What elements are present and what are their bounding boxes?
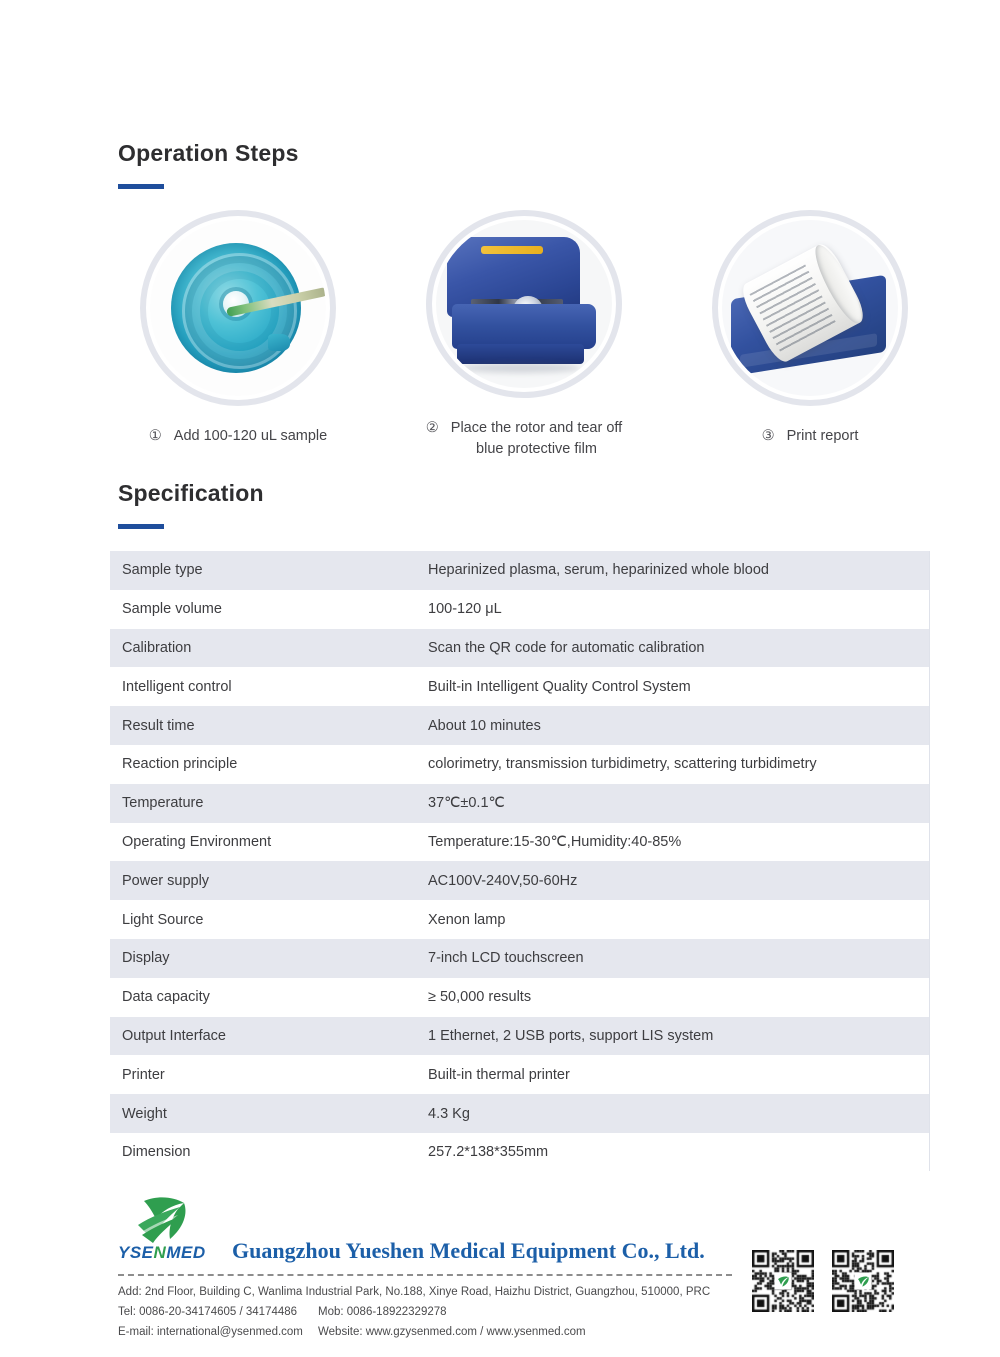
step-2-caption-line-1: Place the rotor and tear off (451, 420, 622, 436)
spec-value: Built-in Intelligent Quality Control Sys… (422, 667, 930, 706)
spec-value: Scan the QR code for automatic calibrati… (422, 629, 930, 668)
spec-key: Printer (110, 1055, 422, 1094)
step-1-caption-text: Add 100-120 uL sample (174, 426, 327, 447)
table-row: Reaction principlecolorimetry, transmiss… (110, 745, 930, 784)
logo-text-part2: MED (166, 1243, 205, 1262)
table-row: Light SourceXenon lamp (110, 900, 930, 939)
spec-value: Built-in thermal printer (422, 1055, 930, 1094)
spec-value: ≥ 50,000 results (422, 978, 930, 1017)
spec-value: About 10 minutes (422, 706, 930, 745)
qr-code-2[interactable] (832, 1250, 894, 1312)
spec-value: AC100V-240V,50-60Hz (422, 861, 930, 900)
printed-report-roll-photo (722, 220, 898, 396)
logo-text-highlight: N (154, 1243, 167, 1262)
table-right-rule (929, 551, 930, 1171)
spec-key: Dimension (110, 1133, 422, 1172)
qr-leaf-logo-icon (855, 1273, 872, 1290)
contact-info: Add: 2nd Floor, Building C, Wanlima Indu… (118, 1282, 758, 1342)
spec-key: Result time (110, 706, 422, 745)
table-row: Data capacity≥ 50,000 results (110, 978, 930, 1017)
table-row: Output Interface1 Ethernet, 2 USB ports,… (110, 1017, 930, 1056)
step-2-caption: ② Place the rotor and tear off blue prot… (426, 418, 622, 460)
step-1-photo-ring (140, 210, 336, 406)
footer-divider (118, 1274, 732, 1276)
step-2-caption-line-2: blue protective film (476, 441, 597, 457)
table-row: Display7-inch LCD touchscreen (110, 939, 930, 978)
spec-value: 100-120 μL (422, 590, 930, 629)
step-2-photo-ring (426, 210, 622, 398)
spec-key: Temperature (110, 784, 422, 823)
analyzer-open-tray-photo (436, 220, 612, 388)
spec-key: Calibration (110, 629, 422, 668)
table-row: CalibrationScan the QR code for automati… (110, 629, 930, 668)
spec-key: Sample type (110, 551, 422, 590)
operation-step-3: ③ Print report (690, 210, 930, 460)
table-row: Temperature37℃±0.1℃ (110, 784, 930, 823)
spec-value: 1 Ethernet, 2 USB ports, support LIS sys… (422, 1017, 930, 1056)
table-row: Weight4.3 Kg (110, 1094, 930, 1133)
qr-code-1[interactable] (752, 1250, 814, 1312)
operation-steps-heading: Operation Steps (118, 140, 299, 167)
spec-key: Display (110, 939, 422, 978)
email-website-line: E-mail: international@ysenmed.com Websit… (118, 1322, 758, 1342)
step-1-number: ① (149, 426, 162, 447)
table-row: Intelligent controlBuilt-in Intelligent … (110, 667, 930, 706)
spec-key: Output Interface (110, 1017, 422, 1056)
table-row: Operating EnvironmentTemperature:15-30℃,… (110, 823, 930, 862)
step-3-photo-ring (712, 210, 908, 406)
mobile: Mob: 0086-18922329278 (318, 1302, 758, 1322)
telephone: Tel: 0086-20-34174605 / 34174486 (118, 1302, 318, 1322)
spec-value: 37℃±0.1℃ (422, 784, 930, 823)
qr-leaf-logo-icon (775, 1273, 792, 1290)
table-row: Sample typeHeparinized plasma, serum, he… (110, 551, 930, 590)
operation-step-2: ② Place the rotor and tear off blue prot… (404, 210, 644, 460)
table-row: Dimension257.2*138*355mm (110, 1133, 930, 1172)
spec-value: Temperature:15-30℃,Humidity:40-85% (422, 823, 930, 862)
spec-key: Operating Environment (110, 823, 422, 862)
green-leaf-logo-icon (118, 1195, 214, 1247)
heading-accent-bar (118, 184, 164, 189)
spec-value: 257.2*138*355mm (422, 1133, 930, 1172)
spec-key: Power supply (110, 861, 422, 900)
specification-table: Sample typeHeparinized plasma, serum, he… (110, 551, 930, 1172)
company-logo: YSENMED (118, 1195, 214, 1263)
document-page: Operation Steps ① Add 100-120 uL sample (0, 0, 1000, 1357)
website: Website: www.gzysenmed.com / www.ysenmed… (318, 1322, 758, 1342)
step-2-caption-text: Place the rotor and tear off blue protec… (451, 418, 622, 460)
specification-heading: Specification (118, 480, 264, 507)
qr-code-group (752, 1250, 894, 1312)
spec-key: Sample volume (110, 590, 422, 629)
step-2-number: ② (426, 418, 439, 439)
tel-mob-line: Tel: 0086-20-34174605 / 34174486 Mob: 00… (118, 1302, 758, 1322)
step-3-number: ③ (762, 426, 775, 447)
address-line: Add: 2nd Floor, Building C, Wanlima Indu… (118, 1282, 758, 1302)
operation-steps-row: ① Add 100-120 uL sample (118, 210, 930, 460)
spec-value: 4.3 Kg (422, 1094, 930, 1133)
step-3-caption: ③ Print report (762, 426, 859, 447)
analyzer-yellow-label-shape (481, 246, 543, 253)
rotor-tab-shape (268, 334, 290, 351)
step-3-caption-text: Print report (787, 426, 859, 447)
table-row: Result timeAbout 10 minutes (110, 706, 930, 745)
spec-value: colorimetry, transmission turbidimetry, … (422, 745, 930, 784)
logo-text-part1: YSE (118, 1243, 154, 1262)
logo-wordmark: YSENMED (118, 1243, 206, 1263)
spec-key: Reaction principle (110, 745, 422, 784)
analyzer-shadow-shape (461, 363, 581, 373)
spec-key: Data capacity (110, 978, 422, 1017)
spec-value: Heparinized plasma, serum, heparinized w… (422, 551, 930, 590)
table-row: Power supplyAC100V-240V,50-60Hz (110, 861, 930, 900)
table-row: Sample volume100-120 μL (110, 590, 930, 629)
spec-value: 7-inch LCD touchscreen (422, 939, 930, 978)
operation-step-1: ① Add 100-120 uL sample (118, 210, 358, 460)
analyzer-tray-shape (452, 304, 596, 349)
company-name: Guangzhou Yueshen Medical Equipment Co.,… (232, 1238, 705, 1264)
spec-key: Weight (110, 1094, 422, 1133)
spec-value: Xenon lamp (422, 900, 930, 939)
email: E-mail: international@ysenmed.com (118, 1322, 318, 1342)
spec-key: Intelligent control (110, 667, 422, 706)
table-row: PrinterBuilt-in thermal printer (110, 1055, 930, 1094)
heading-accent-bar (118, 524, 164, 529)
spec-key: Light Source (110, 900, 422, 939)
rotor-disc-with-pipette-photo (150, 220, 326, 396)
step-1-caption: ① Add 100-120 uL sample (149, 426, 327, 447)
analyzer-base-shape (457, 344, 584, 364)
